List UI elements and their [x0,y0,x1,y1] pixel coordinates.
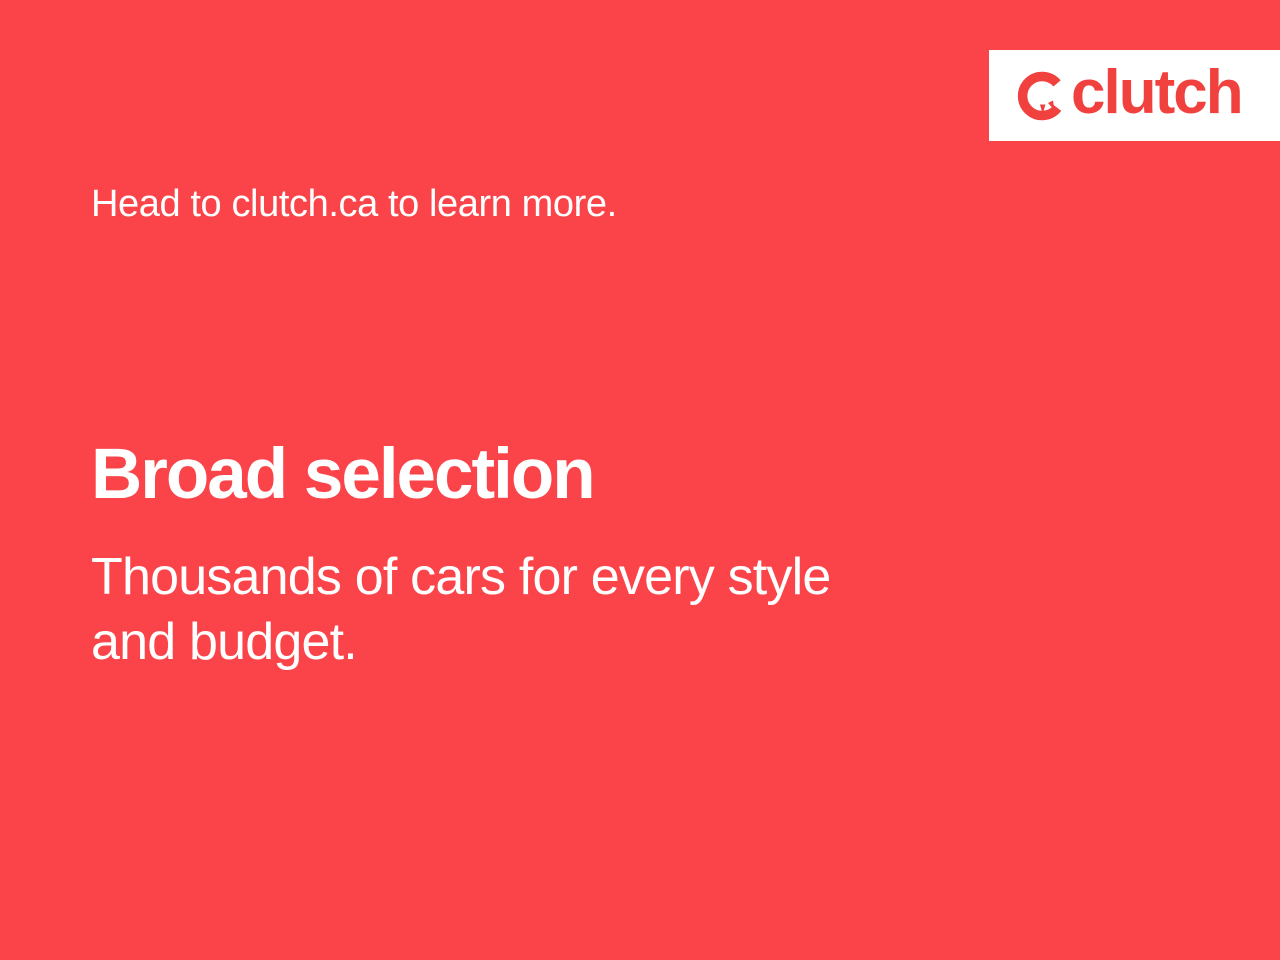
brand-logo-plate: clutch [989,50,1280,141]
brand-logo-lockup[interactable]: clutch [1017,65,1242,127]
promo-slide: clutch Head to clutch.ca to learn more. … [0,0,1280,960]
subhead-line-1: Thousands of cars for every style [91,545,1051,610]
clutch-c-mark-icon [1017,70,1069,122]
kicker-text: Head to clutch.ca to learn more. [91,183,617,227]
brand-wordmark: clutch [1071,62,1242,124]
subhead: Thousands of cars for every style and bu… [91,545,1051,675]
headline: Broad selection [91,437,594,514]
subhead-line-2: and budget. [91,610,1051,675]
